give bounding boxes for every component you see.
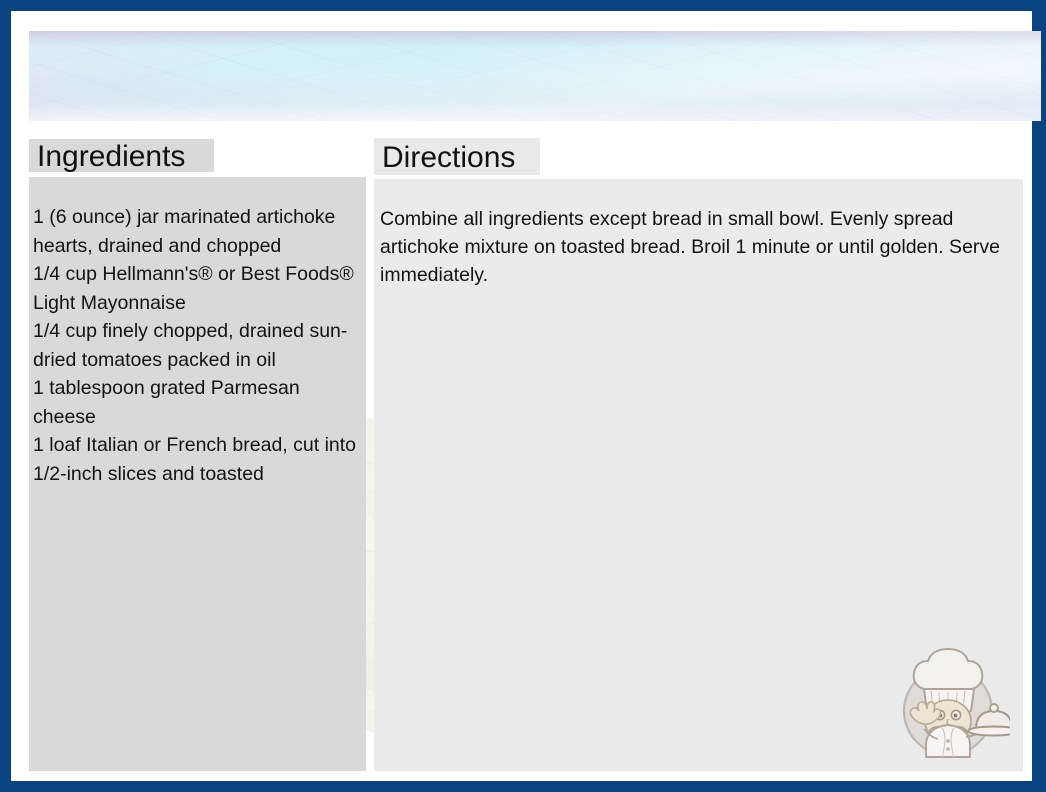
- border-left: [0, 0, 11, 792]
- ingredients-heading: Ingredients: [37, 140, 185, 173]
- border-top: [0, 0, 1046, 11]
- chef-mascot-icon: [890, 645, 1010, 763]
- border-bottom: [0, 781, 1046, 792]
- ingredient-item: 1 loaf Italian or French bread, cut into…: [33, 431, 365, 488]
- ingredient-item: 1 (6 ounce) jar marinated artichoke hear…: [33, 203, 365, 260]
- page-surface: Creamy Artichoke Bruschetta: [11, 11, 1032, 781]
- title-banner: [29, 31, 1041, 121]
- ingredient-item: 1 tablespoon grated Parmesan cheese: [33, 374, 365, 431]
- ingredient-item: 1/4 cup finely chopped, drained sun-drie…: [33, 317, 365, 374]
- banner-sheen: [29, 31, 1041, 121]
- recipe-card: Creamy Artichoke Bruschetta: [0, 0, 1046, 792]
- directions-text: Combine all ingredients except bread in …: [380, 205, 1018, 289]
- ingredient-item: 1/4 cup Hellmann's® or Best Foods® Light…: [33, 260, 365, 317]
- ingredients-list: 1 (6 ounce) jar marinated artichoke hear…: [33, 203, 365, 488]
- directions-heading: Directions: [382, 140, 515, 175]
